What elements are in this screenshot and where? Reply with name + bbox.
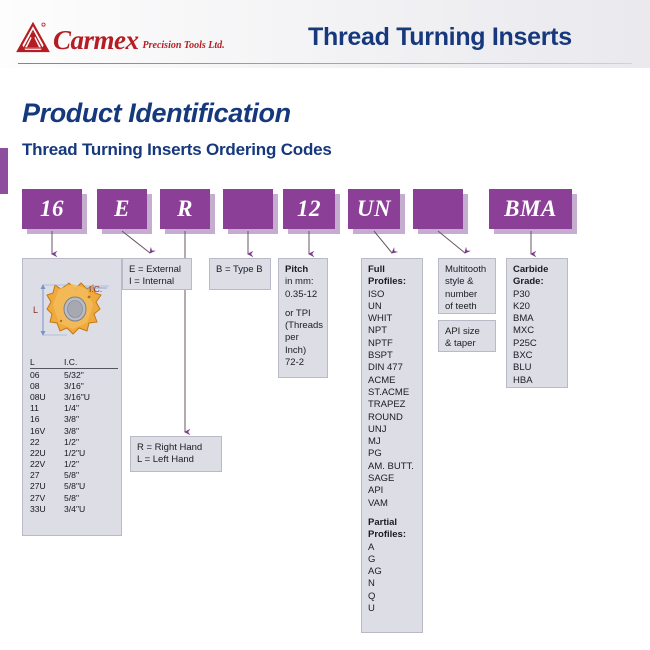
api-size-box: API size & taper: [438, 320, 496, 352]
full-profile-item: DIN 477: [368, 362, 416, 374]
table-row: 163/8": [30, 414, 118, 425]
pitch-tpi-range: 72-2: [285, 357, 321, 369]
size-code-cell: 11: [30, 403, 64, 414]
inscribed-circle-cell: 3/8": [64, 425, 118, 436]
inscribed-circle-cell: 1/2": [64, 459, 118, 470]
carbide-grade-item: BLU: [513, 362, 561, 374]
multitooth-line-2: style &: [445, 276, 489, 288]
table-row: 221/2": [30, 436, 118, 447]
partial-profiles-heading-1: Partial: [368, 517, 397, 528]
table-row: 16V3/8": [30, 425, 118, 436]
table-row: 22U1/2"U: [30, 447, 118, 458]
full-profile-item: API: [368, 485, 416, 497]
multitooth-line-1: Multitooth: [445, 264, 489, 276]
size-table-col-l: L: [30, 357, 64, 369]
pitch-mm-range: 0.35-12: [285, 289, 321, 301]
inscribed-circle-cell: 5/8": [64, 470, 118, 481]
full-profile-item: ISO: [368, 289, 416, 301]
size-table-col-ic: I.C.: [64, 357, 118, 369]
svg-text:I.C.: I.C.: [89, 284, 102, 294]
type-line: B = Type B: [216, 264, 264, 276]
size-code-cell: 33U: [30, 503, 64, 514]
full-profiles-heading-1: Full: [368, 264, 385, 275]
size-code-cell: 16: [30, 414, 64, 425]
size-table: L I.C. 065/32"083/16"08U3/16"U111/4"163/…: [30, 357, 118, 514]
api-line-1: API size: [445, 326, 489, 338]
size-code-cell: 08: [30, 380, 64, 391]
carbide-grade-item: MXC: [513, 325, 561, 337]
right-hand-line: R = Right Hand: [137, 442, 215, 454]
pitch-tpi-label: or TPI: [285, 308, 321, 320]
hand-direction-box: R = Right Hand L = Left Hand: [130, 436, 222, 472]
carbide-grade-heading-1: Carbide: [513, 264, 548, 275]
inscribed-circle-cell: 1/2"U: [64, 447, 118, 458]
table-row: 22V1/2": [30, 459, 118, 470]
inscribed-circle-cell: 1/2": [64, 436, 118, 447]
partial-profile-item: G: [368, 554, 416, 566]
size-code-cell: 27: [30, 470, 64, 481]
table-row: 111/4": [30, 403, 118, 414]
table-row: 275/8": [30, 470, 118, 481]
carbide-grade-item: K20: [513, 301, 561, 313]
inscribed-circle-cell: 5/8"U: [64, 481, 118, 492]
size-code-cell: 06: [30, 369, 64, 381]
inscribed-circle-cell: 3/8": [64, 414, 118, 425]
size-code-cell: 08U: [30, 391, 64, 402]
carbide-grade-item: BMA: [513, 313, 561, 325]
left-hand-line: L = Left Hand: [137, 454, 215, 466]
full-profile-item: ACME: [368, 375, 416, 387]
inscribed-circle-cell: 3/16"U: [64, 391, 118, 402]
carbide-grade-item: P30: [513, 289, 561, 301]
full-profile-item: SAGE: [368, 473, 416, 485]
full-profile-item: PG: [368, 448, 416, 460]
full-profiles-heading-2: Profiles:: [368, 276, 406, 287]
full-profile-item: WHIT: [368, 313, 416, 325]
table-row: 08U3/16"U: [30, 391, 118, 402]
full-profile-item: UN: [368, 301, 416, 313]
external-line: E = External: [129, 264, 185, 276]
pitch-tpi-note-2: per Inch): [285, 332, 321, 357]
inscribed-circle-cell: 1/4": [64, 403, 118, 414]
size-code-cell: 27U: [30, 481, 64, 492]
partial-profile-item: U: [368, 603, 416, 615]
table-row: 083/16": [30, 380, 118, 391]
product-identification-page: Carmex Precision Tools Ltd. Thread Turni…: [0, 0, 650, 650]
full-profile-item: NPTF: [368, 338, 416, 350]
multitooth-box: Multitooth style & number of teeth: [438, 258, 496, 314]
table-row: 065/32": [30, 369, 118, 381]
type-box: B = Type B: [209, 258, 271, 290]
inscribed-circle-cell: 5/8": [64, 492, 118, 503]
insert-geometry-icon: L I.C.: [23, 259, 123, 359]
inscribed-circle-cell: 3/4"U: [64, 503, 118, 514]
partial-profile-item: N: [368, 578, 416, 590]
multitooth-line-4: of teeth: [445, 301, 489, 313]
carbide-grade-item: P25C: [513, 338, 561, 350]
size-code-cell: 16V: [30, 425, 64, 436]
carbide-grade-heading-2: Grade:: [513, 276, 544, 287]
carbide-grade-box: Carbide Grade: P30K20BMAMXCP25CBXCBLUHBA: [506, 258, 568, 388]
partial-profiles-heading-2: Profiles:: [368, 529, 406, 540]
full-profile-item: ST.ACME: [368, 387, 416, 399]
table-row: 33U3/4"U: [30, 503, 118, 514]
full-profile-item: ROUND: [368, 412, 416, 424]
full-profile-item: MJ: [368, 436, 416, 448]
pitch-heading: Pitch: [285, 264, 308, 275]
table-row: 27V5/8": [30, 492, 118, 503]
pitch-tpi-note-1: (Threads: [285, 320, 321, 332]
profiles-box: Full Profiles: ISOUNWHITNPTNPTFBSPTDIN 4…: [361, 258, 423, 633]
api-line-2: & taper: [445, 338, 489, 350]
size-code-cell: 22U: [30, 447, 64, 458]
size-detail-box: L I.C. L I.C. 065/32"083/16"08U3/16"U111…: [22, 258, 122, 536]
pitch-mm-label: in mm:: [285, 276, 321, 288]
pitch-box: Pitch in mm: 0.35-12 or TPI (Threads per…: [278, 258, 328, 378]
inscribed-circle-cell: 3/16": [64, 380, 118, 391]
partial-profile-item: A: [368, 542, 416, 554]
size-code-cell: 27V: [30, 492, 64, 503]
size-table-header-row: L I.C.: [30, 357, 118, 369]
svg-text:L: L: [33, 305, 38, 315]
inscribed-circle-cell: 5/32": [64, 369, 118, 381]
full-profile-item: TRAPEZ: [368, 399, 416, 411]
carbide-grade-item: HBA: [513, 375, 561, 387]
size-code-cell: 22: [30, 436, 64, 447]
carbide-grade-item: BXC: [513, 350, 561, 362]
full-profile-item: AM. BUTT.: [368, 461, 416, 473]
multitooth-line-3: number: [445, 289, 489, 301]
size-code-cell: 22V: [30, 459, 64, 470]
partial-profile-item: Q: [368, 591, 416, 603]
partial-profile-item: AG: [368, 566, 416, 578]
full-profile-item: UNJ: [368, 424, 416, 436]
full-profile-item: NPT: [368, 325, 416, 337]
full-profile-item: VAM: [368, 498, 416, 510]
table-row: 27U5/8"U: [30, 481, 118, 492]
external-internal-box: E = External I = Internal: [122, 258, 192, 290]
full-profile-item: BSPT: [368, 350, 416, 362]
internal-line: I = Internal: [129, 276, 185, 288]
